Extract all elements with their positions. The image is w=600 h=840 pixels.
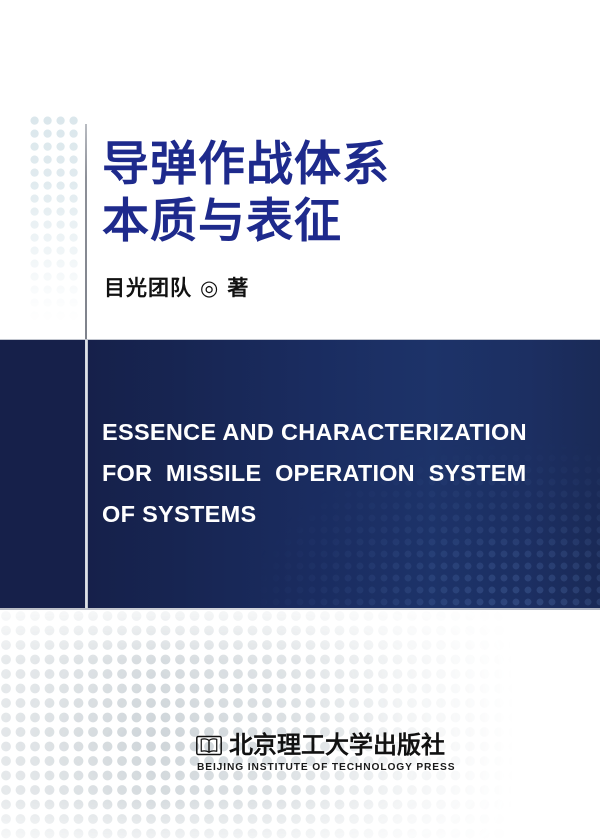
author-byline: 目光团队◎著 [104,272,249,302]
english-title-line-1: ESSENCE AND CHARACTERIZATION [102,412,572,453]
publisher-name-en: BEIJING INSTITUTE OF TECHNOLOGY PRESS [197,762,446,773]
open-book-icon [196,735,222,756]
vertical-divider-upper [85,124,87,340]
english-title-line-2: FOR MISSILE OPERATION SYSTEM [102,453,572,494]
decorative-dot-pattern-bottom [0,610,600,840]
decorative-dot-pattern-top [30,116,82,328]
author-separator-icon: ◎ [192,276,227,300]
author-role: 著 [227,276,249,300]
vertical-divider-lower [85,340,88,608]
chinese-title-line-1: 导弹作战体系 [102,136,562,193]
chinese-title-line-2: 本质与表征 [102,193,562,250]
chinese-title: 导弹作战体系 本质与表征 [102,136,562,250]
cover-bottom-section [0,610,600,840]
publisher-name-row: 北京理工大学出版社 [196,732,446,758]
publisher-name-cn: 北京理工大学出版社 [229,732,445,758]
english-title: ESSENCE AND CHARACTERIZATION FOR MISSILE… [102,412,572,535]
english-title-line-3: OF SYSTEMS [102,494,572,535]
book-cover: 导弹作战体系 本质与表征 目光团队◎著 ESSENCE AND CHARACTE… [0,0,600,840]
publisher-block: 北京理工大学出版社 BEIJING INSTITUTE OF TECHNOLOG… [196,732,446,773]
band-top-rule [0,339,600,340]
author-name: 目光团队 [104,276,192,300]
